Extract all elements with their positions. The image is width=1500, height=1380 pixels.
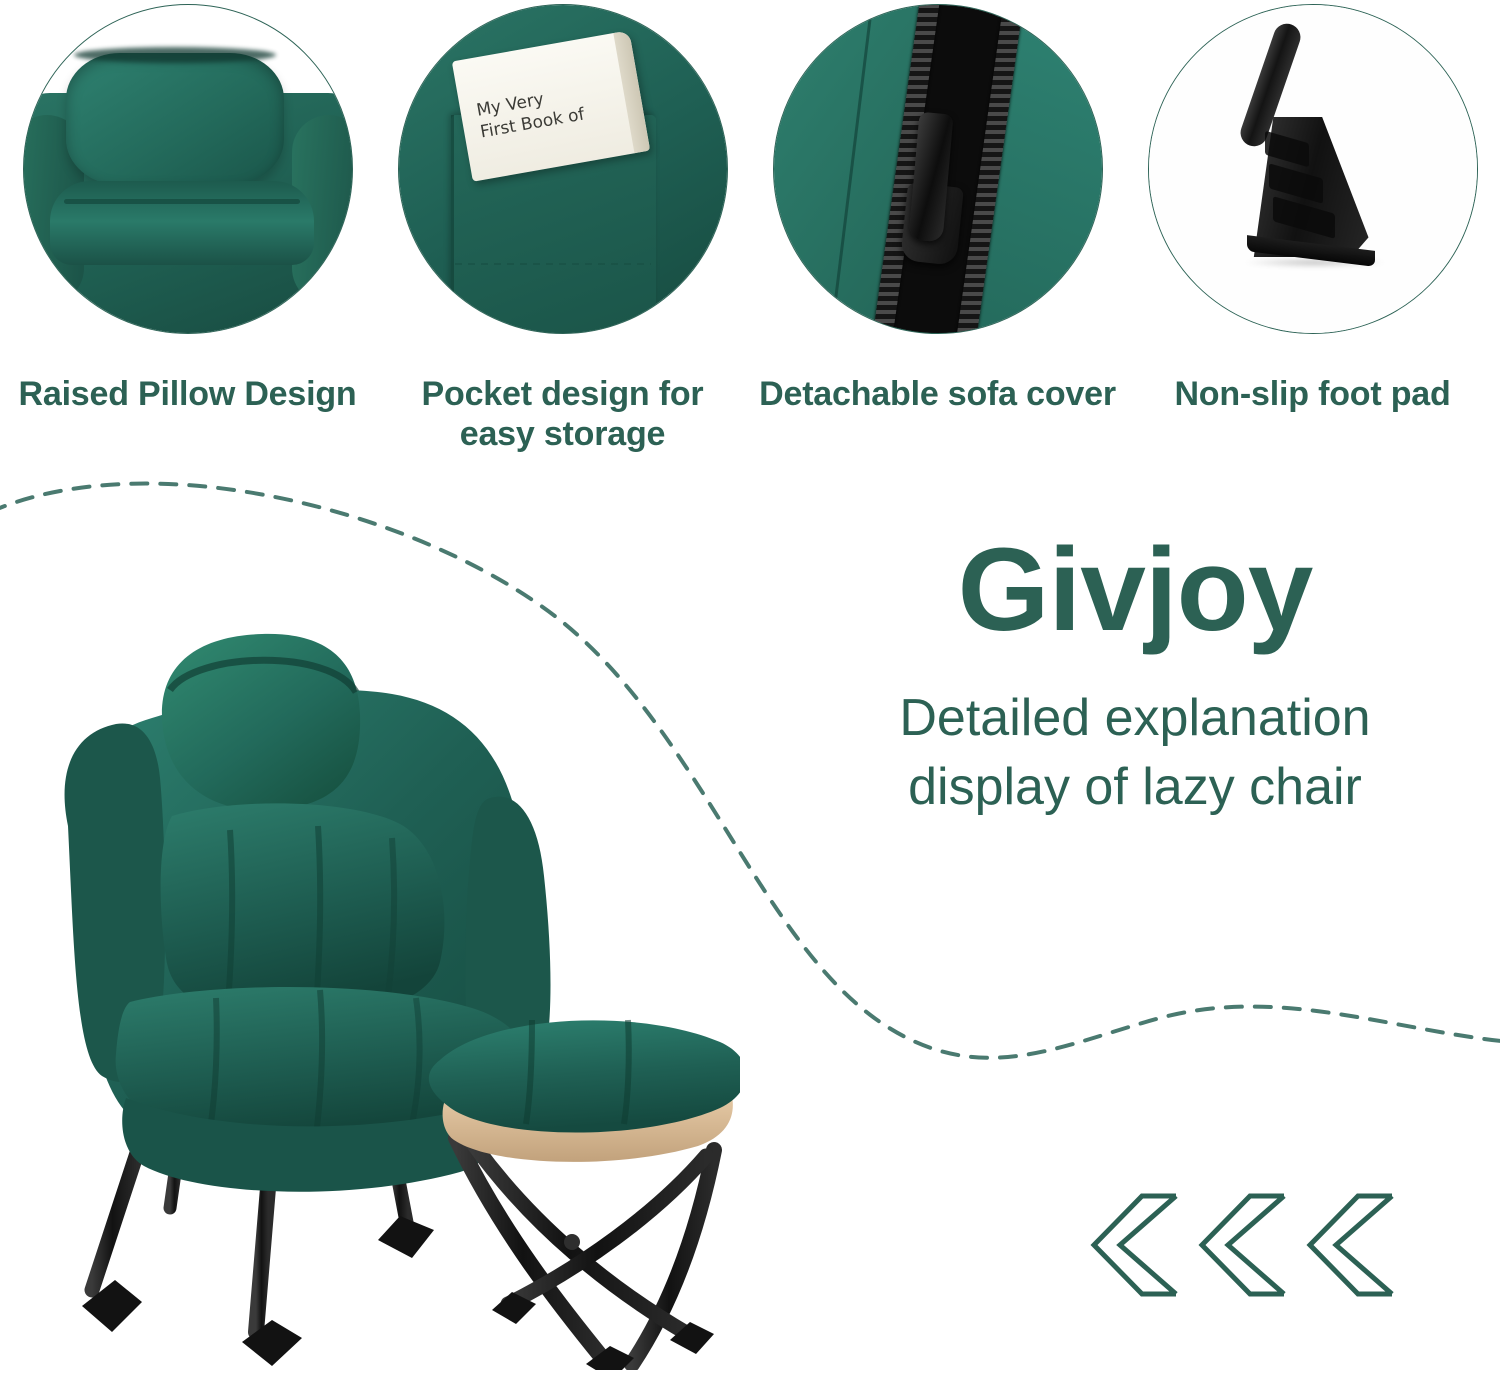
feature-image-wrapper xyxy=(1148,4,1478,334)
feature-image-wrapper xyxy=(773,4,1103,334)
chair-leg-front-left xyxy=(92,1150,138,1290)
feature-card-non-slip-foot: Non-slip foot pad xyxy=(1125,0,1500,470)
backrest-cushion xyxy=(161,803,445,1018)
headline-line-1: Detailed explanation xyxy=(790,684,1480,753)
pillow-closeup-photo xyxy=(23,4,353,334)
feature-caption-pocket-storage: Pocket design for easy storage xyxy=(375,374,750,454)
hero-headline: Detailed explanation display of lazy cha… xyxy=(790,684,1480,821)
feature-caption-raised-pillow: Raised Pillow Design xyxy=(0,374,375,414)
chevron-left-icon xyxy=(1198,1190,1290,1300)
feature-card-detachable-cover: Detachable sofa cover xyxy=(750,0,1125,470)
chevron-arrows-group xyxy=(1090,1190,1398,1300)
lazy-chair-product-illustration xyxy=(20,590,740,1370)
chevron-left-icon xyxy=(1090,1190,1182,1300)
zipper-closeup-photo xyxy=(773,4,1103,334)
headline-line-2: display of lazy chair xyxy=(790,753,1480,822)
backrest-seam-shape xyxy=(50,181,314,265)
pocket-closeup-photo: My Very First Book of xyxy=(398,4,728,334)
book-title-text: My Very First Book of xyxy=(474,74,630,144)
ottoman-pivot-bolt xyxy=(564,1234,580,1250)
chevron-left-icon xyxy=(1306,1190,1398,1300)
brand-text-block: Givjoy Detailed explanation display of l… xyxy=(790,530,1480,822)
brand-name: Givjoy xyxy=(790,530,1480,650)
hero-section: Givjoy Detailed explanation display of l… xyxy=(0,470,1500,1380)
foot-shadow xyxy=(1245,257,1385,268)
feature-image-wrapper xyxy=(23,4,353,334)
ottoman-frame-bar-a xyxy=(456,1138,604,1360)
feature-card-raised-pillow: Raised Pillow Design xyxy=(0,0,375,470)
feature-card-pocket-storage: My Very First Book of Pocket design for … xyxy=(375,0,750,470)
ottoman xyxy=(429,1020,740,1370)
foot-pad-closeup-photo xyxy=(1148,4,1478,334)
feature-caption-detachable-cover: Detachable sofa cover xyxy=(750,374,1125,414)
feature-highlights-strip: Raised Pillow Design My Very First Book … xyxy=(0,0,1500,470)
raised-pillow-shape xyxy=(66,53,284,185)
pocket-stitching xyxy=(455,263,651,265)
feature-caption-non-slip-foot: Non-slip foot pad xyxy=(1125,374,1500,414)
feature-image-wrapper: My Very First Book of xyxy=(398,4,728,334)
chair-leg-front-right xyxy=(256,1188,268,1332)
chair-foot-pad-back-right xyxy=(378,1216,434,1258)
